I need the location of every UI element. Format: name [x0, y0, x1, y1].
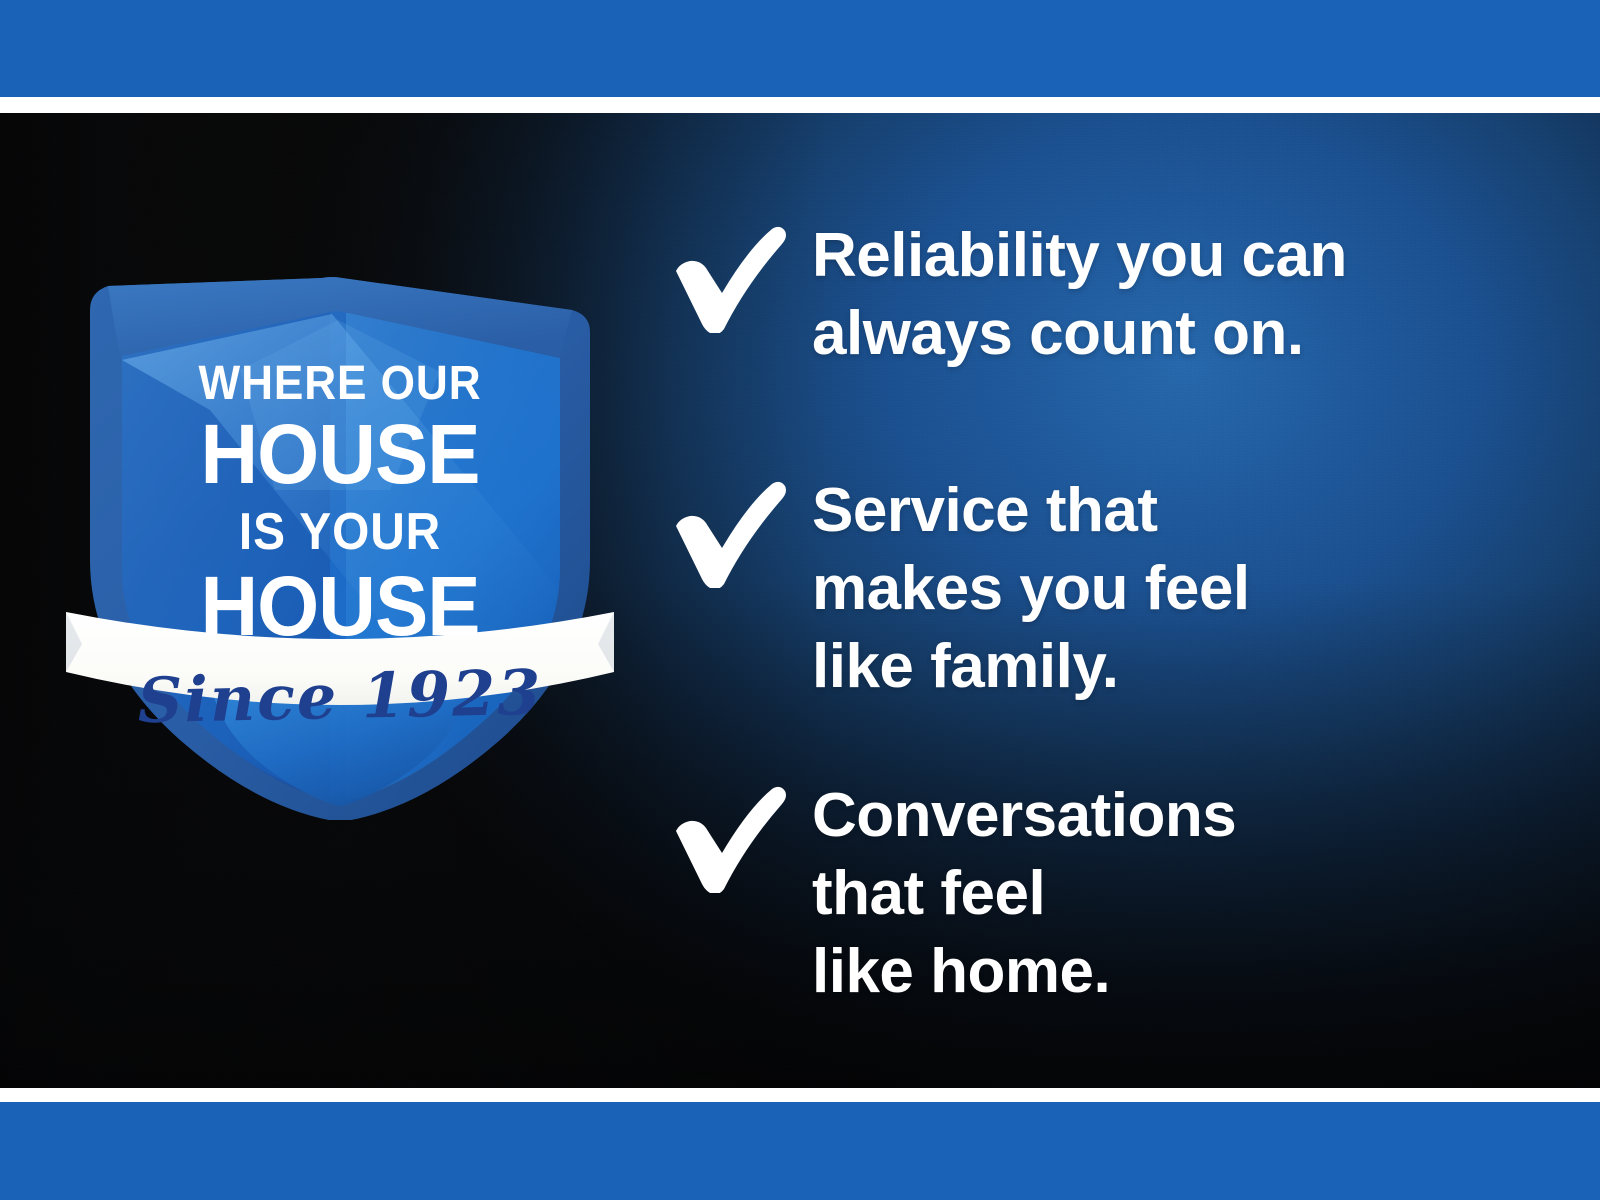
list-item: Service that makes you feel like family. — [660, 468, 1540, 706]
list-item: Reliability you can always count on. — [660, 213, 1540, 373]
check-icon — [660, 773, 790, 893]
check-icon — [660, 213, 790, 333]
promo-banner: Where Our House Is Your House Since 1923… — [0, 0, 1600, 1200]
logo-shield: Where Our House Is Your House Since 1923 — [60, 160, 620, 820]
list-item: Conversations that feel like home. — [660, 773, 1540, 1011]
top-accent-bar — [0, 0, 1600, 97]
value-prop-list: Reliability you can always count on. Ser… — [660, 113, 1540, 1088]
list-item-label: Reliability you can always count on. — [812, 213, 1540, 373]
list-item-label: Conversations that feel like home. — [812, 773, 1540, 1011]
logo-since-script: Since 1923 — [59, 654, 620, 739]
bottom-accent-bar — [0, 1102, 1600, 1200]
check-icon — [660, 468, 790, 588]
list-item-label: Service that makes you feel like family. — [812, 468, 1540, 706]
